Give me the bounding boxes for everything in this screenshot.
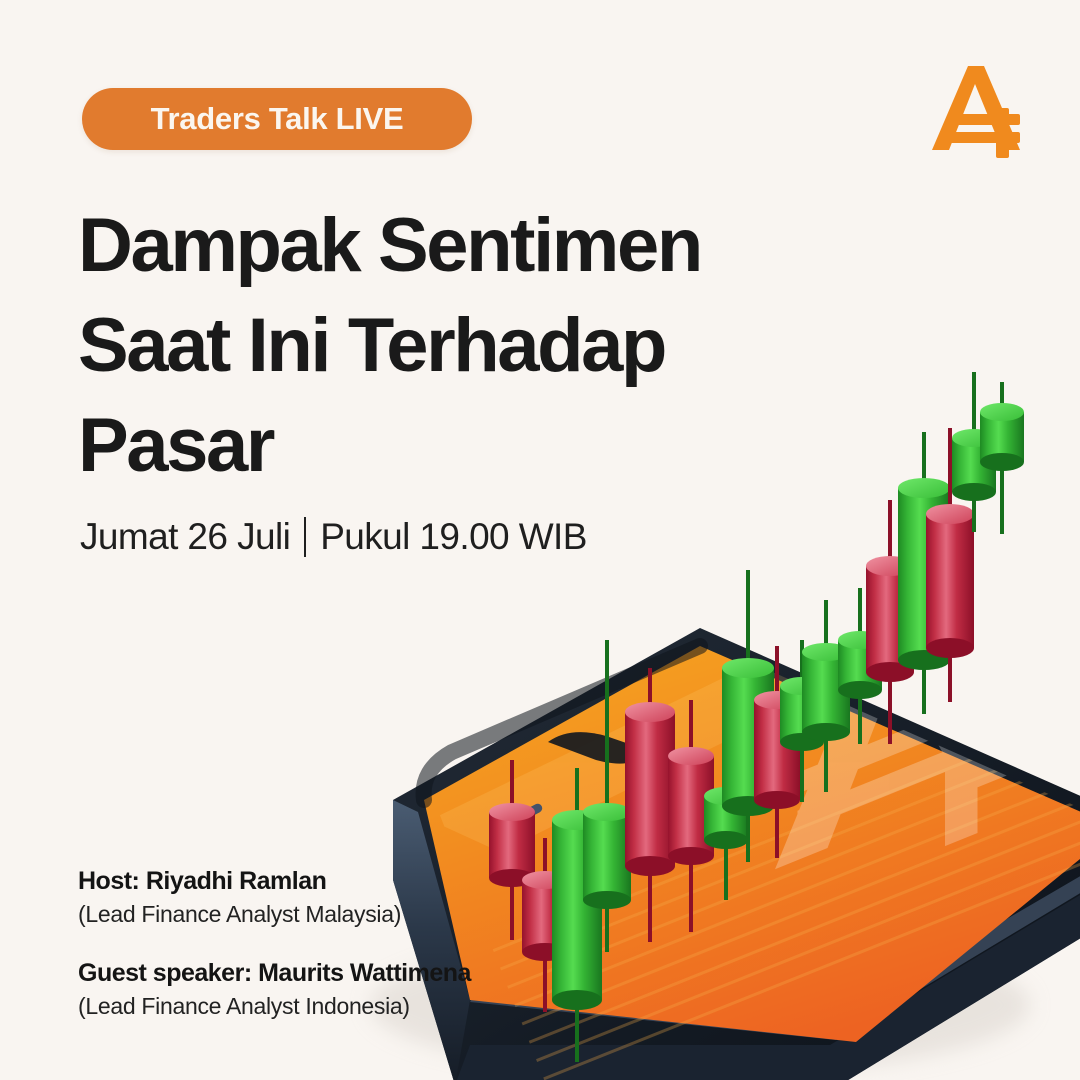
poster-canvas: Traders Talk LIVE Dampak Sentimen Saat I… [0, 0, 1080, 1080]
schedule-divider [304, 517, 306, 557]
host-role: (Lead Finance Analyst Malaysia) [78, 898, 638, 930]
live-badge-label: Traders Talk LIVE [151, 101, 404, 137]
credit-guest: Guest speaker: Maurits Wattimena (Lead F… [78, 956, 638, 1022]
headline-line-3: Pasar [78, 396, 838, 496]
headline-line-2: Saat Ini Terhadap [78, 296, 838, 396]
guest-name: Guest speaker: Maurits Wattimena [78, 956, 638, 990]
live-badge[interactable]: Traders Talk LIVE [82, 88, 472, 150]
page-title: Dampak Sentimen Saat Ini Terhadap Pasar [78, 196, 838, 496]
speaker-credits: Host: Riyadhi Ramlan (Lead Finance Analy… [78, 864, 638, 1022]
event-date: Jumat 26 Juli [80, 516, 290, 558]
event-time: Pukul 19.00 WIB [320, 516, 587, 558]
brand-logo-icon [928, 62, 1032, 162]
host-name: Host: Riyadhi Ramlan [78, 864, 638, 898]
headline-line-1: Dampak Sentimen [78, 196, 838, 296]
guest-role: (Lead Finance Analyst Indonesia) [78, 990, 638, 1022]
event-schedule: Jumat 26 Juli Pukul 19.00 WIB [80, 516, 587, 558]
credit-host: Host: Riyadhi Ramlan (Lead Finance Analy… [78, 864, 638, 930]
